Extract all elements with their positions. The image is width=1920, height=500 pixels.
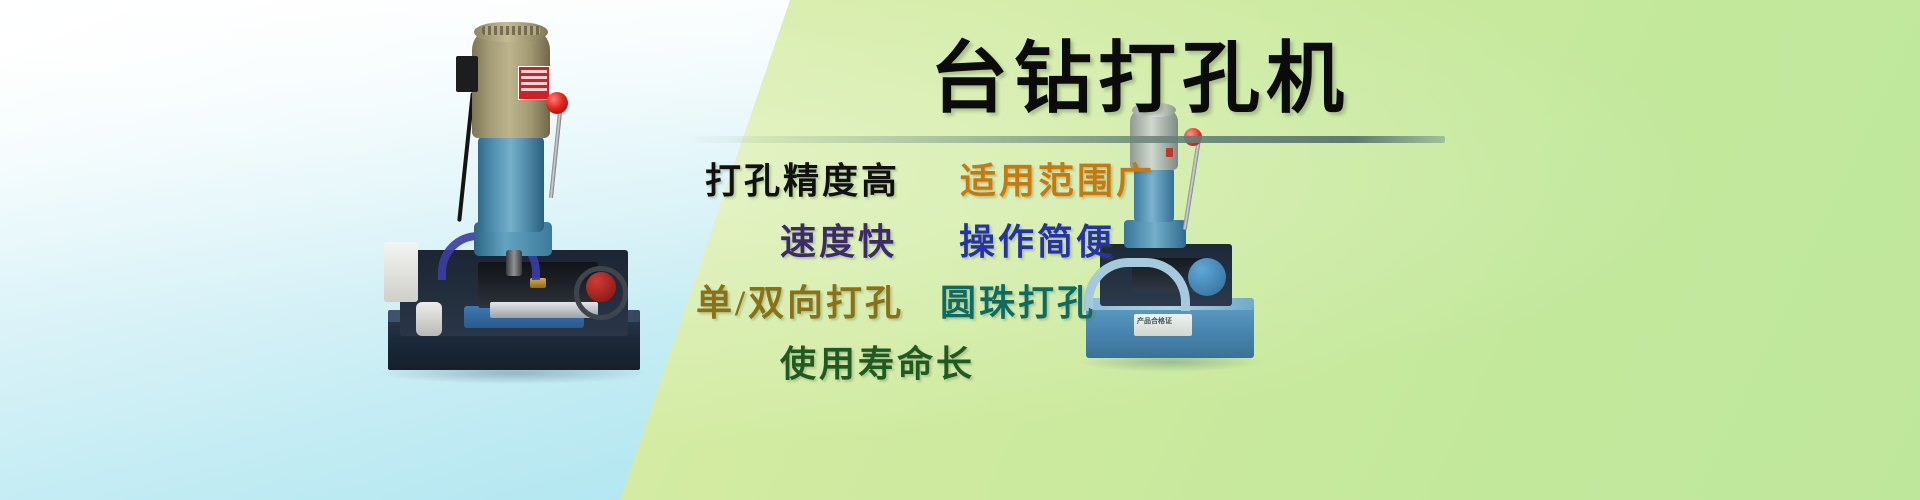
left-machine-foot-pedal [416,302,442,336]
feature-long-lifespan: 使用寿命长 [780,346,975,382]
left-machine-junction-box [456,56,478,92]
title-divider [685,136,1445,143]
left-machine-motor-vents [482,26,540,35]
banner-title: 台钻打孔机 [930,40,1350,118]
feature-list: 打孔精度高 适用范围广 速度快 操作简便 单/双向打孔 圆珠打孔 使用寿命长 [660,150,1420,394]
product-banner: 产品合格证 台钻打孔机 打孔精度高 适用范围广 速度快 操作简便 单/双向打孔 … [0,0,1920,500]
feature-row-3: 单/双向打孔 圆珠打孔 [660,272,1420,334]
feature-wide-application: 适用范围广 [960,163,1155,199]
left-machine-handwheel-knob [586,272,616,302]
left-machine-control-box [384,242,418,302]
feature-accuracy: 打孔精度高 [705,163,900,199]
feature-bead-drilling: 圆珠打孔 [940,285,1096,321]
left-machine-lever-knob [546,92,568,114]
feature-easy-operation: 操作简便 [959,224,1115,260]
left-machine-drill-chuck [506,250,522,276]
left-product-image [378,10,658,380]
feature-row-2: 速度快 操作简便 [660,212,1420,272]
left-machine-spec-label [518,66,550,100]
feature-row-1: 打孔精度高 适用范围广 [660,150,1420,212]
left-machine-feed-lever [549,102,563,198]
left-machine-spindle-housing [478,136,544,232]
feature-fast-speed: 速度快 [780,224,897,260]
feature-single-double-drilling: 单/双向打孔 [696,285,904,321]
feature-row-4: 使用寿命长 [660,334,1420,394]
